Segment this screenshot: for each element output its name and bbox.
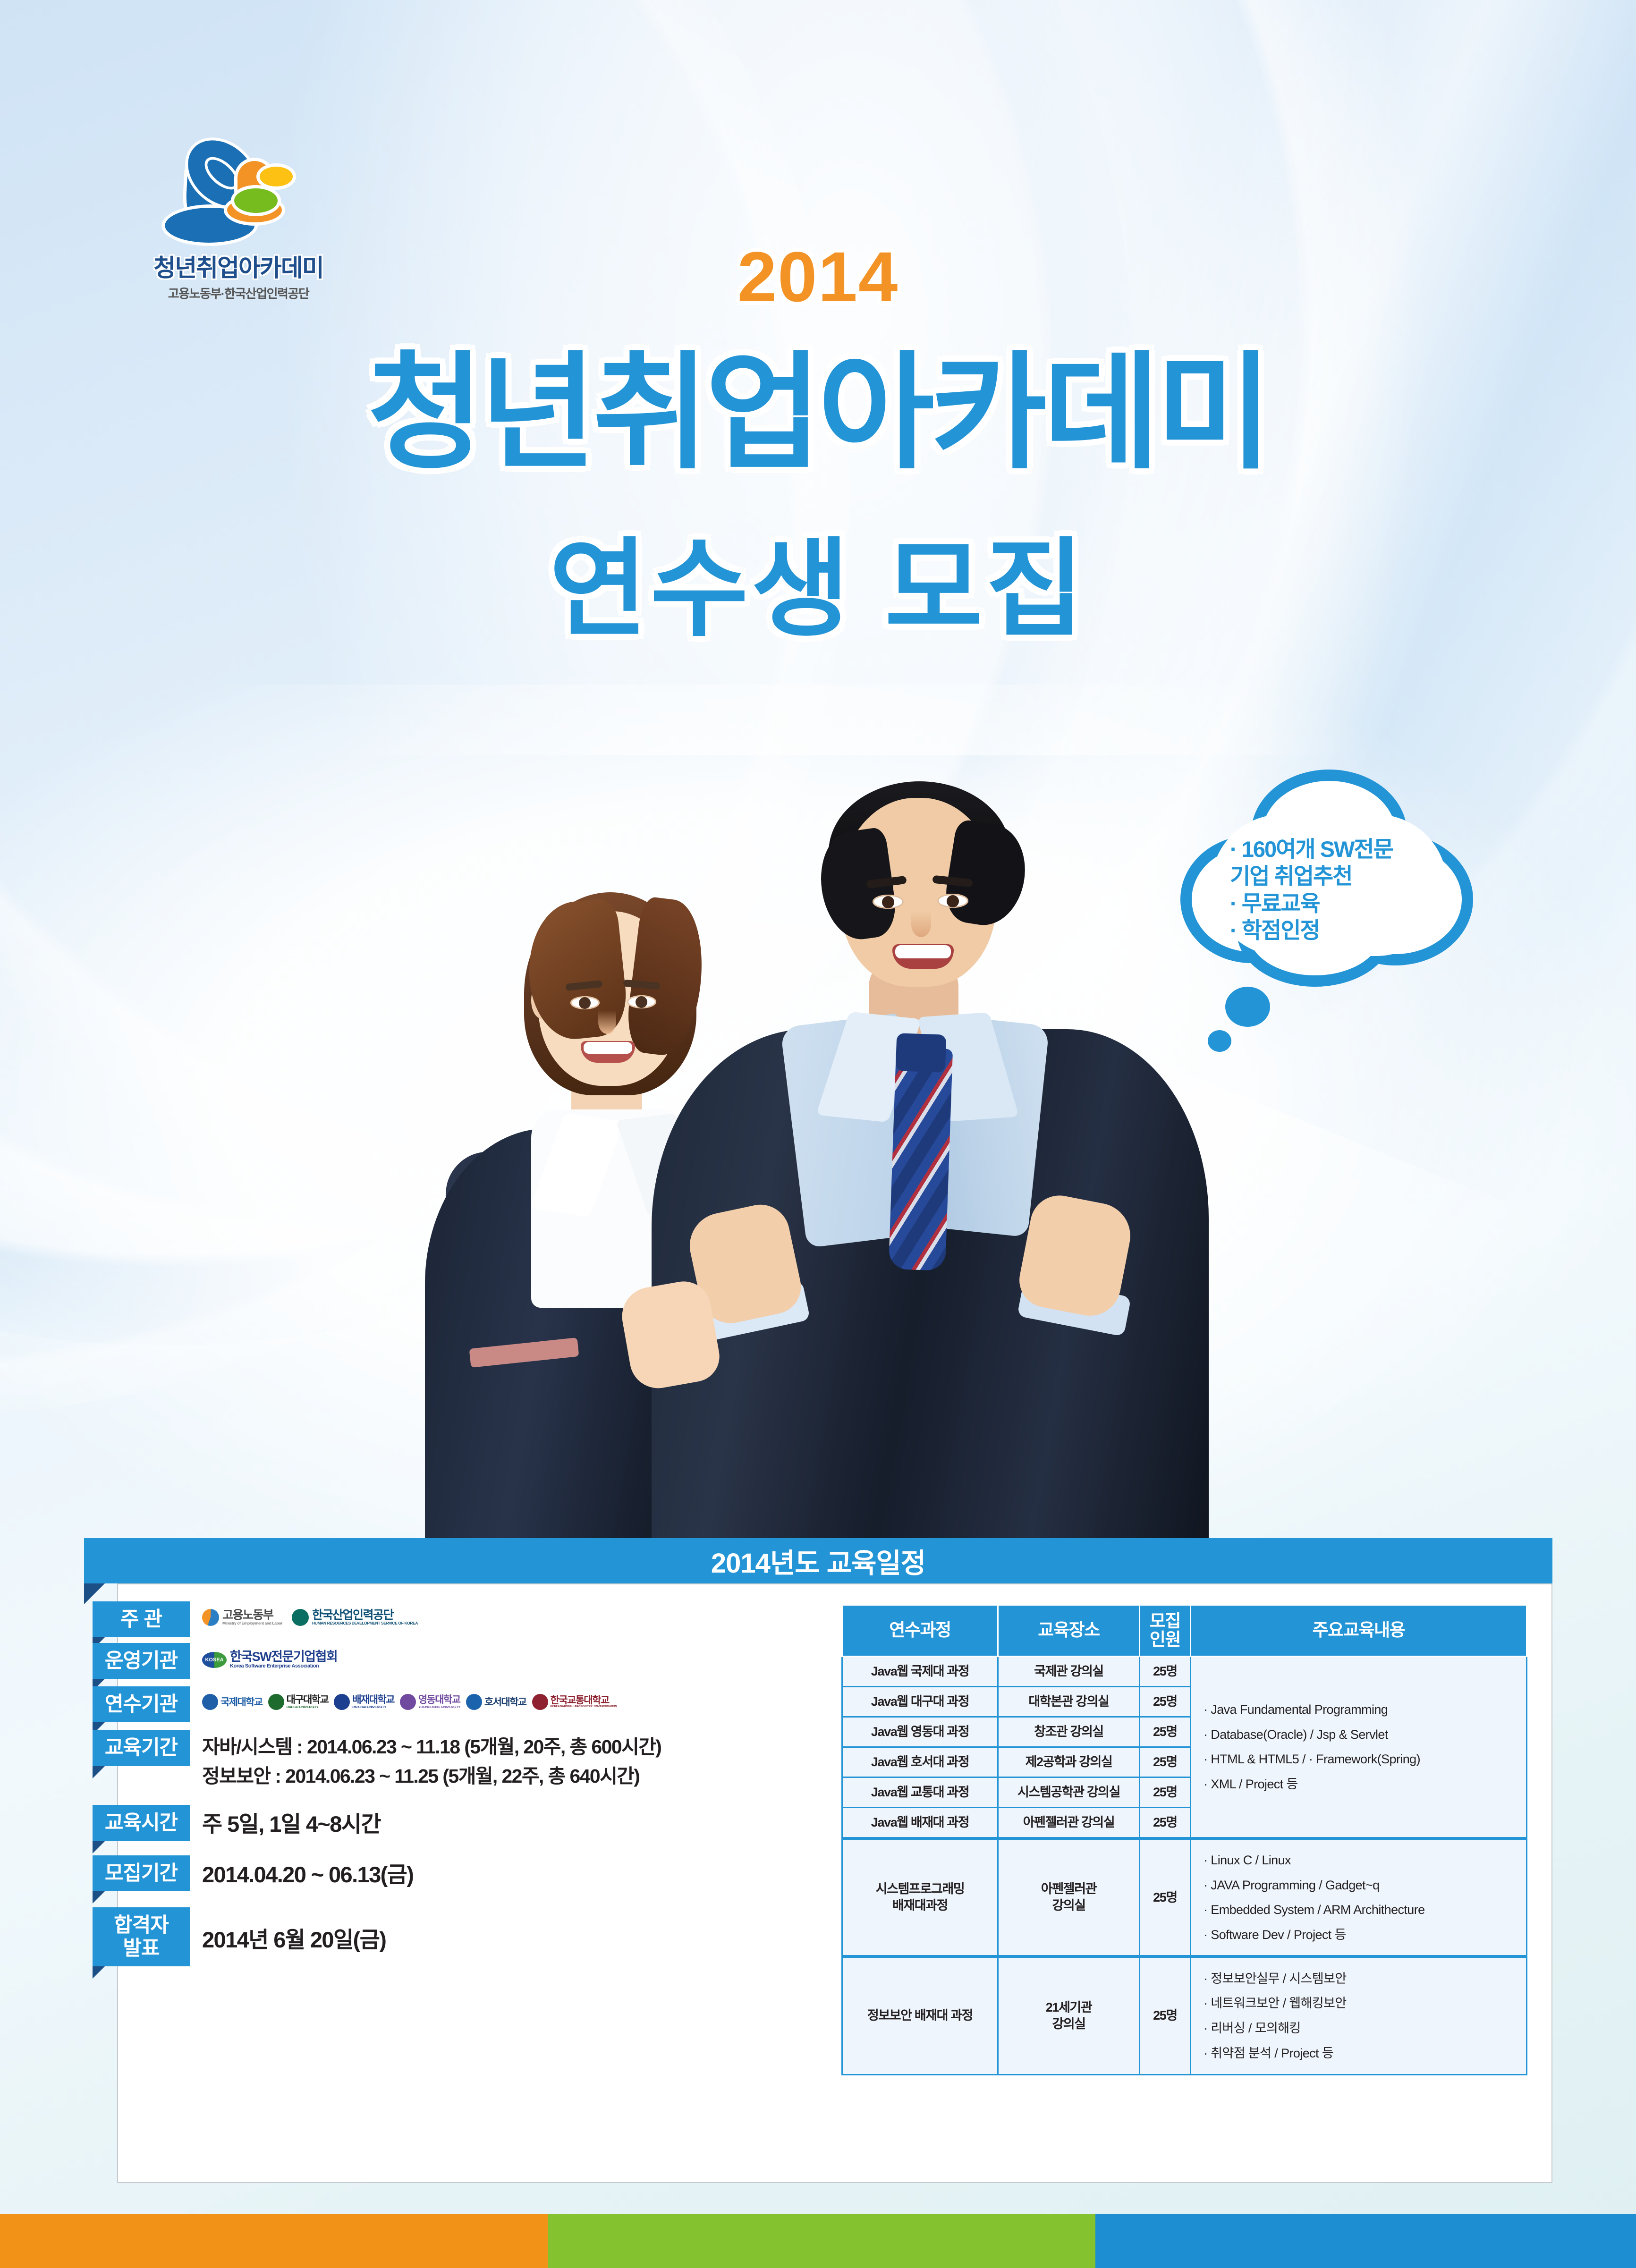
info-label-period: 교육기간 (93, 1730, 190, 1766)
period-line-2: 정보보안 : 2014.06.23 ~ 11.25 (5개월, 22주, 총 6… (202, 1762, 661, 1791)
info-row-hours: 교육시간 주 5일, 1일 4~8시간 (93, 1805, 829, 1841)
moel-mark-icon (202, 1609, 219, 1626)
schedule-table: 연수과정 교육장소 모집 인원 주요교육내용 Java웹 국제대 과정 국제관 … (841, 1604, 1527, 2075)
kosea-name-kr: 한국SW전문기업협회 (230, 1650, 337, 1664)
info-label-hours: 교육시간 (93, 1805, 190, 1841)
cell-course: Java웹 호서대 과정 (842, 1747, 998, 1777)
university-name-kr: 국제대학교 (220, 1697, 263, 1707)
cell-content-security: · 정보보안실무 / 시스템보안 · 네트워크보안 / 웹해킹보안 · 리버싱 … (1191, 1956, 1527, 2074)
info-label-announce: 합격자 발표 (93, 1907, 190, 1966)
table-row: 정보보안 배재대 과정 21세기관 강의실 25명 · 정보보안실무 / 시스템… (842, 1956, 1527, 2074)
university-logo: 국제대학교 (202, 1694, 263, 1710)
footer-bar-green (548, 2214, 1095, 2268)
moel-name-kr: 고용노동부 (222, 1609, 282, 1622)
footer-color-bar (0, 2214, 1636, 2268)
info-row-operator: 운영기관 KOSEA 한국SW전문기업협회 Korea Software Ent… (93, 1643, 829, 1679)
university-mark-icon (268, 1694, 284, 1710)
header-place: 교육장소 (998, 1605, 1140, 1657)
footer-bar-blue (1095, 2214, 1636, 2268)
table-row: Java웹 국제대 과정 국제관 강의실 25명 · Java Fundamen… (842, 1656, 1527, 1686)
cell-quota: 25명 (1140, 1808, 1191, 1839)
cell-place: 21세기관 강의실 (998, 1956, 1140, 2074)
university-name-kr: 배재대학교 (352, 1695, 394, 1705)
cell-place: 창조관 강의실 (998, 1717, 1140, 1747)
cell-course: Java웹 교통대 과정 (842, 1777, 998, 1808)
kosea-logo: KOSEA 한국SW전문기업협회 Korea Software Enterpri… (202, 1650, 337, 1669)
moel-logo: 고용노동부 Ministry of Employment and Labor (202, 1609, 282, 1626)
bubble-tail-small (1208, 1030, 1231, 1052)
period-line-1: 자바/시스템 : 2014.06.23 ~ 11.18 (5개월, 20주, 총… (202, 1733, 661, 1762)
info-row-announce: 합격자 발표 2014년 6월 20일(금) (93, 1907, 829, 1966)
benefits-thought-bubble: · 160여개 SW전문 기업 취업추천 · 무료교육 · 학점인정 (1176, 770, 1478, 1015)
cell-content-java: · Java Fundamental Programming · Databas… (1191, 1656, 1527, 1838)
cell-course: Java웹 국제대 과정 (842, 1656, 998, 1686)
bubble-tail-large (1225, 987, 1270, 1027)
moel-name-en: Ministry of Employment and Labor (222, 1621, 282, 1625)
info-label-host: 주 관 (93, 1601, 190, 1637)
title-year: 2014 (0, 236, 1636, 318)
hrdkorea-name-en: HUMAN RESOURCES DEVELOPMENT SERVICE OF K… (312, 1621, 418, 1625)
university-logo: 한국교통대학교 KOREA NATIONAL UNIVERSITY OF TRA… (532, 1694, 617, 1710)
university-mark-icon (466, 1694, 482, 1710)
recruit-value: 2014.04.20 ~ 06.13(금) (202, 1858, 413, 1892)
university-mark-icon (202, 1694, 218, 1710)
cell-place: 국제관 강의실 (998, 1656, 1140, 1686)
cell-quota: 25명 (1140, 1717, 1191, 1747)
university-name-en: PAI CHAI UNIVERSITY (352, 1705, 394, 1709)
schedule-banner: 2014년도 교육일정 (84, 1538, 1552, 1583)
logo-mark-icon (161, 144, 316, 245)
info-row-institutions: 연수기관 국제대학교 대구대학교 DAEGU UNIVERSITY 배재대학교 (93, 1686, 829, 1722)
cell-course: 정보보안 배재대 과정 (842, 1956, 998, 2074)
info-label-recruit: 모집기간 (93, 1855, 190, 1891)
cell-place: 대학본관 강의실 (998, 1686, 1140, 1717)
cell-course: Java웹 대구대 과정 (842, 1686, 998, 1717)
cell-place: 시스템공학관 강의실 (998, 1777, 1140, 1808)
cell-course: 시스템프로그래밍 배재대과정 (842, 1838, 998, 1956)
cell-quota: 25명 (1140, 1686, 1191, 1717)
university-mark-icon (400, 1694, 416, 1710)
cell-place: 아펜젤러관 강의실 (998, 1838, 1140, 1956)
kosea-mark-icon: KOSEA (202, 1652, 227, 1668)
university-mark-icon (532, 1694, 548, 1710)
footer-bar-orange (0, 2214, 548, 2268)
university-name-kr: 호서대학교 (484, 1697, 526, 1707)
header-content: 주요교육내용 (1191, 1605, 1527, 1657)
schedule-banner-title: 2014년도 교육일정 (711, 1541, 925, 1581)
cell-content-system: · Linux C / Linux · JAVA Programming / G… (1191, 1838, 1527, 1956)
cell-quota: 25명 (1140, 1956, 1191, 2074)
university-logo: 영동대학교 YOUNGDONG UNIVERSITY (400, 1694, 460, 1710)
cell-quota: 25명 (1140, 1747, 1191, 1777)
cell-course: Java웹 영동대 과정 (842, 1717, 998, 1747)
hours-value: 주 5일, 1일 4~8시간 (202, 1808, 381, 1841)
cell-place: 제2공학과 강의실 (998, 1747, 1140, 1777)
announce-value: 2014년 6월 20일(금) (202, 1923, 386, 1957)
university-name-kr: 영동대학교 (418, 1695, 460, 1705)
hrdkorea-name-kr: 한국산업인력공단 (312, 1609, 418, 1622)
table-row: 시스템프로그래밍 배재대과정 아펜젤러관 강의실 25명 · Linux C /… (842, 1838, 1527, 1956)
info-rows: 주 관 고용노동부 Ministry of Employment and Lab… (93, 1601, 829, 1972)
info-label-institutions: 연수기관 (93, 1686, 190, 1722)
operator-logos: KOSEA 한국SW전문기업협회 Korea Software Enterpri… (190, 1643, 337, 1669)
host-logos: 고용노동부 Ministry of Employment and Labor 한… (190, 1601, 418, 1626)
university-name-en: YOUNGDONG UNIVERSITY (418, 1705, 460, 1709)
university-name-en: DAEGU UNIVERSITY (287, 1705, 329, 1709)
university-logo: 호서대학교 (466, 1694, 526, 1710)
table-header-row: 연수과정 교육장소 모집 인원 주요교육내용 (842, 1605, 1527, 1657)
students-photo (368, 736, 1265, 1558)
university-name-en: KOREA NATIONAL UNIVERSITY OF TRANSPORTAT… (551, 1705, 617, 1709)
poster-root: 청년취업아카데미 고용노동부·한국산업인력공단 2014 청년취업아카데미 연수… (0, 0, 1636, 2268)
university-name-kr: 한국교통대학교 (551, 1695, 617, 1705)
university-logos: 국제대학교 대구대학교 DAEGU UNIVERSITY 배재대학교 PAI C… (190, 1686, 617, 1710)
university-name-kr: 대구대학교 (287, 1695, 329, 1705)
kosea-name-en: Korea Software Enterprise Association (230, 1664, 337, 1669)
cell-quota: 25명 (1140, 1838, 1191, 1956)
info-row-period: 교육기간 자바/시스템 : 2014.06.23 ~ 11.18 (5개월, 2… (93, 1730, 829, 1791)
info-row-host: 주 관 고용노동부 Ministry of Employment and Lab… (93, 1601, 829, 1637)
cell-place: 아펜젤러관 강의실 (998, 1808, 1140, 1839)
info-row-recruit: 모집기간 2014.04.20 ~ 06.13(금) (93, 1855, 829, 1892)
page-title: 청년취업아카데미 (0, 349, 1636, 476)
cell-quota: 25명 (1140, 1777, 1191, 1808)
university-logo: 배재대학교 PAI CHAI UNIVERSITY (334, 1694, 394, 1710)
benefits-text: · 160여개 SW전문 기업 취업추천 · 무료교육 · 학점인정 (1230, 836, 1433, 944)
info-label-operator: 운영기관 (93, 1643, 190, 1679)
page-subtitle: 연수생 모집 (0, 536, 1636, 643)
cell-quota: 25명 (1140, 1656, 1191, 1686)
cell-course: Java웹 배재대 과정 (842, 1808, 998, 1839)
hrdkorea-mark-icon (292, 1609, 309, 1626)
header-course: 연수과정 (842, 1605, 998, 1657)
university-mark-icon (334, 1694, 350, 1710)
university-logo: 대구대학교 DAEGU UNIVERSITY (268, 1694, 329, 1710)
hrdkorea-logo: 한국산업인력공단 HUMAN RESOURCES DEVELOPMENT SER… (292, 1609, 418, 1626)
header-quota: 모집 인원 (1140, 1605, 1191, 1657)
